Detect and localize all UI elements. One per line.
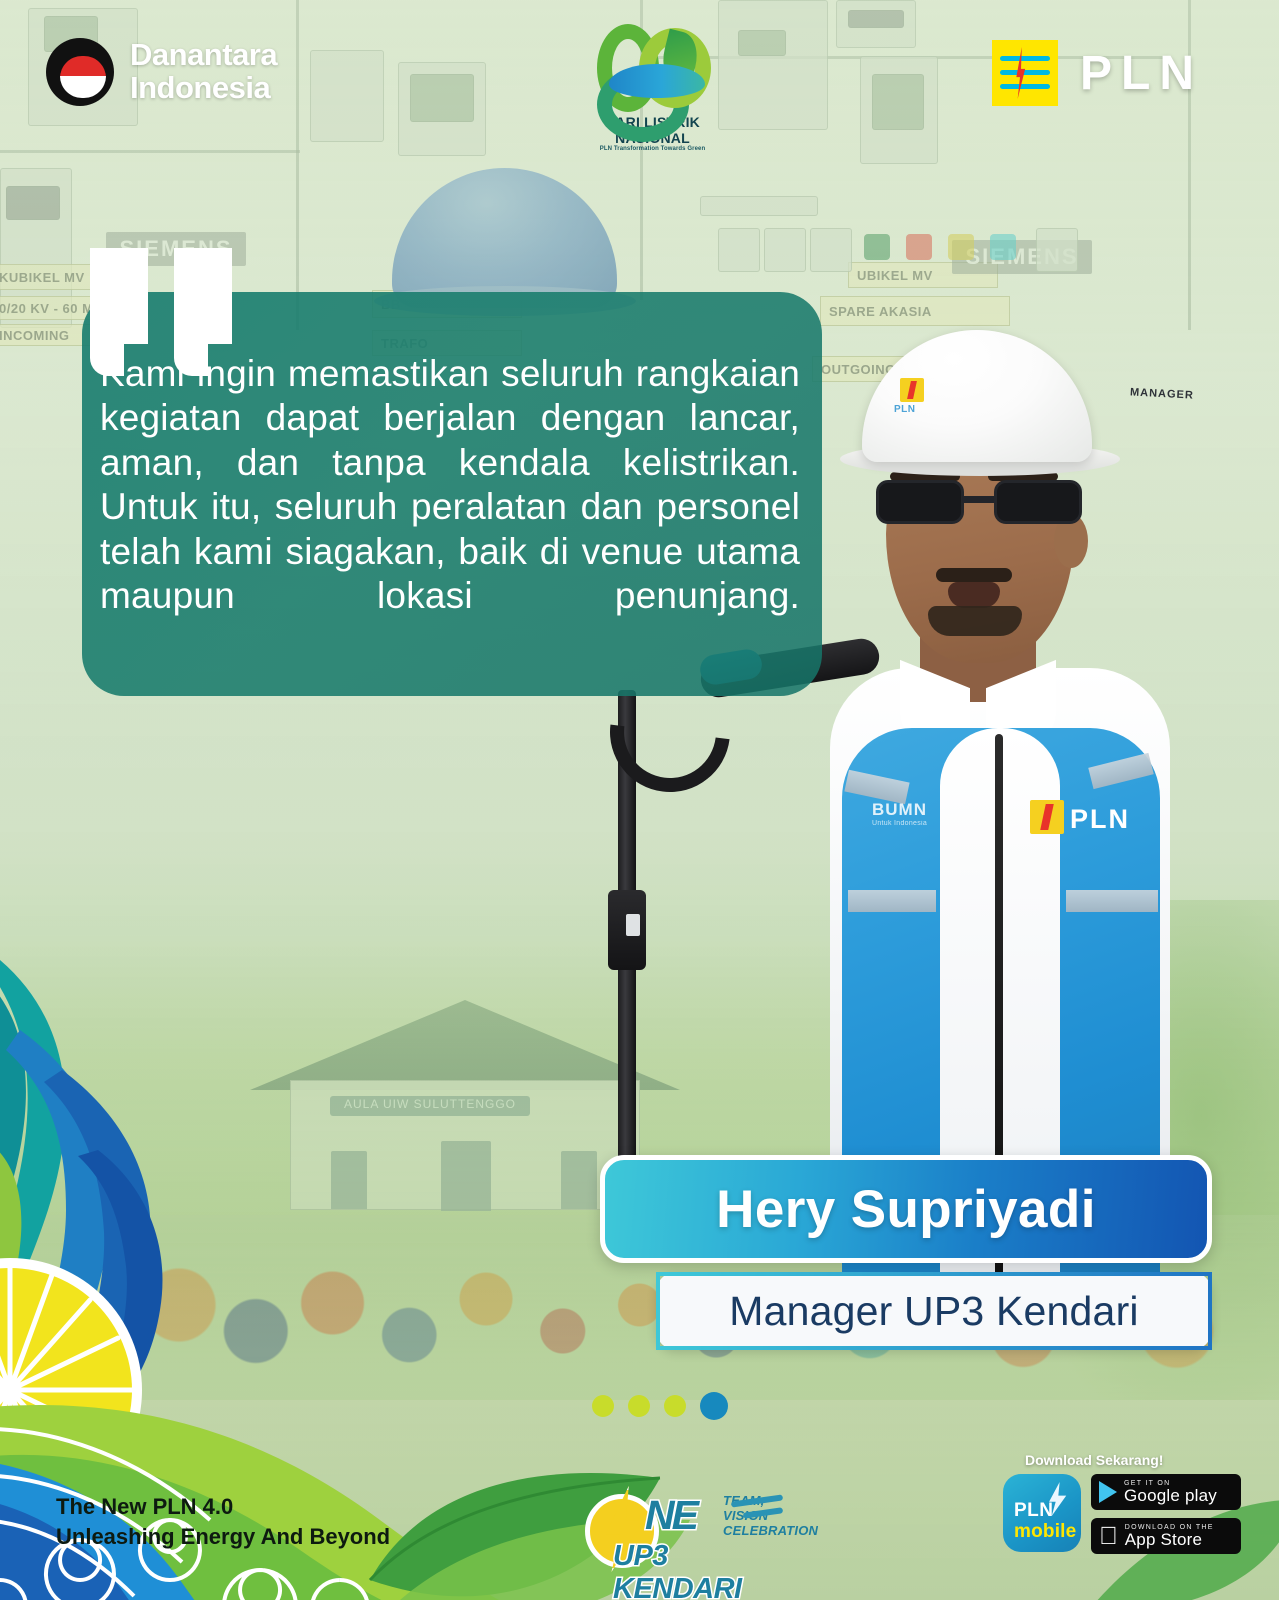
- blue-hardhat: [392, 168, 617, 308]
- building-sign-text: AULA UIW SULUTTENGGO: [330, 1097, 530, 1111]
- carousel-dot-1[interactable]: [592, 1395, 614, 1417]
- danantara-mark-icon: [46, 38, 114, 106]
- google-play-labels: GET IT ON Google play: [1124, 1480, 1217, 1504]
- building-window: [331, 1151, 367, 1209]
- cabinet-edge: [0, 150, 300, 153]
- poster-canvas: KUBIKEL MV 0/20 KV - 60 MVA INCOMING BB …: [0, 0, 1279, 1600]
- download-title: Download Sekarang!: [1025, 1452, 1253, 1468]
- selector-knob: [1036, 228, 1078, 272]
- speaker-mustache: [936, 568, 1012, 582]
- hari-listrik-nasional-logo: HARI LISTRIK NASIONAL PLN Transformation…: [585, 18, 720, 152]
- download-badges-row: PLN mobile GET IT ON Google play  Downl…: [1003, 1474, 1253, 1554]
- relay-display: [872, 74, 924, 130]
- control-label: [700, 196, 818, 216]
- cabinet-seam: [296, 0, 299, 330]
- building-window: [561, 1151, 597, 1209]
- vest-reflective-stripe: [848, 890, 936, 912]
- quote-text: Kami ingin memastikan seluruh rangkaian …: [100, 352, 800, 663]
- app-store-large-label: App Store: [1125, 1531, 1214, 1548]
- danantara-line-1: Danantara: [130, 39, 277, 72]
- pln-lightning-icon: [992, 40, 1058, 106]
- led-green: [864, 234, 890, 260]
- vest-pln-wordmark: PLN: [1070, 804, 1130, 835]
- app-store-small-label: Download on the: [1125, 1524, 1214, 1531]
- one-unit-name: UP3 KENDARI: [613, 1540, 785, 1600]
- pln-logo: PLN: [992, 40, 1203, 106]
- label-spare: SPARE AKASIA: [820, 296, 1010, 326]
- meter-display: [6, 186, 60, 220]
- building-door: [441, 1141, 491, 1211]
- vest-reflective-stripe: [1066, 890, 1158, 912]
- danantara-line-2: Indonesia: [130, 72, 277, 105]
- speaker-beard: [928, 606, 1022, 636]
- tagline: The New PLN 4.0 Unleashing Energy And Be…: [56, 1492, 390, 1552]
- led-red: [906, 234, 932, 260]
- danantara-logo: Danantara Indonesia: [46, 38, 277, 106]
- sunglasses-lens-left: [876, 480, 964, 524]
- google-play-large-label: Google play: [1124, 1487, 1217, 1504]
- one-celebration: CELEBRATION: [723, 1524, 818, 1539]
- tagline-line-1: The New PLN 4.0: [56, 1492, 390, 1522]
- hln-80-logo-icon: [593, 18, 713, 118]
- speaker-name: Hery Supriyadi: [716, 1179, 1096, 1240]
- vest-pln-icon: [1030, 800, 1064, 834]
- vest-bumn-wordmark: BUMN Untuk Indonesia: [872, 800, 927, 827]
- hln-subtitle: PLN Transformation Towards Green: [585, 146, 720, 152]
- relay-display: [410, 74, 474, 122]
- quote-glyph-2: [174, 248, 232, 344]
- vest-bumn-subtext: Untuk Indonesia: [872, 820, 927, 827]
- danantara-wordmark: Danantara Indonesia: [130, 39, 277, 105]
- selector-knob: [810, 228, 852, 272]
- digital-meter-display: [848, 10, 904, 28]
- pln-mobile-name-2: mobile: [1014, 1521, 1076, 1543]
- led-cyan: [990, 234, 1016, 260]
- speaker-mouth: [948, 582, 1000, 608]
- pln-mobile-name-1: PLN: [1014, 1500, 1054, 1522]
- speaker-sunglasses: [876, 480, 1082, 524]
- helmet-manager-text: MANAGER: [1130, 386, 1194, 401]
- led-yellow: [948, 234, 974, 260]
- one-word-ne: NE: [645, 1492, 696, 1539]
- google-play-small-label: GET IT ON: [1124, 1480, 1217, 1487]
- vest-bumn-text: BUMN: [872, 800, 927, 819]
- quotation-mark-icon: [90, 248, 232, 344]
- microphone-battery-pack: [608, 890, 646, 970]
- carousel-dot-3[interactable]: [664, 1395, 686, 1417]
- helmet-pln-wordmark: PLN: [894, 404, 916, 415]
- carousel-dot-4[interactable]: [700, 1392, 728, 1420]
- one-up3-kendari-logo: NE TEAM, VISION CELEBRATION UP3 KENDARI: [575, 1478, 785, 1590]
- sunglasses-lens-right: [994, 480, 1082, 524]
- white-safety-helmet: [862, 330, 1092, 462]
- speaker-name-banner: Hery Supriyadi: [600, 1155, 1212, 1263]
- pln-wordmark: PLN: [1080, 46, 1203, 101]
- relay-display: [738, 30, 786, 56]
- pln-mobile-app-icon[interactable]: PLN mobile: [1003, 1474, 1081, 1552]
- speaker-title-banner: Manager UP3 Kendari: [656, 1272, 1212, 1350]
- download-section: Download Sekarang! PLN mobile GET IT ON …: [1003, 1452, 1253, 1554]
- carousel-dot-2[interactable]: [628, 1395, 650, 1417]
- helmet-pln-icon: [900, 378, 924, 402]
- quote-glyph-1: [90, 248, 148, 344]
- carousel-indicator[interactable]: [592, 1392, 728, 1420]
- selector-knob: [718, 228, 760, 272]
- relay-unit: [718, 0, 828, 130]
- relay-unit: [310, 50, 384, 142]
- apple-icon: : [1099, 1524, 1118, 1549]
- store-badges: GET IT ON Google play  Download on the …: [1091, 1474, 1241, 1554]
- app-store-labels: Download on the App Store: [1125, 1524, 1214, 1548]
- google-play-badge[interactable]: GET IT ON Google play: [1091, 1474, 1241, 1510]
- speaker-title: Manager UP3 Kendari: [729, 1288, 1138, 1335]
- google-play-icon: [1099, 1481, 1117, 1503]
- sunglasses-bridge: [962, 496, 996, 503]
- wave-icon: [609, 64, 705, 98]
- tagline-line-2: Unleashing Energy And Beyond: [56, 1522, 390, 1552]
- app-store-badge[interactable]:  Download on the App Store: [1091, 1518, 1241, 1554]
- selector-knob: [764, 228, 806, 272]
